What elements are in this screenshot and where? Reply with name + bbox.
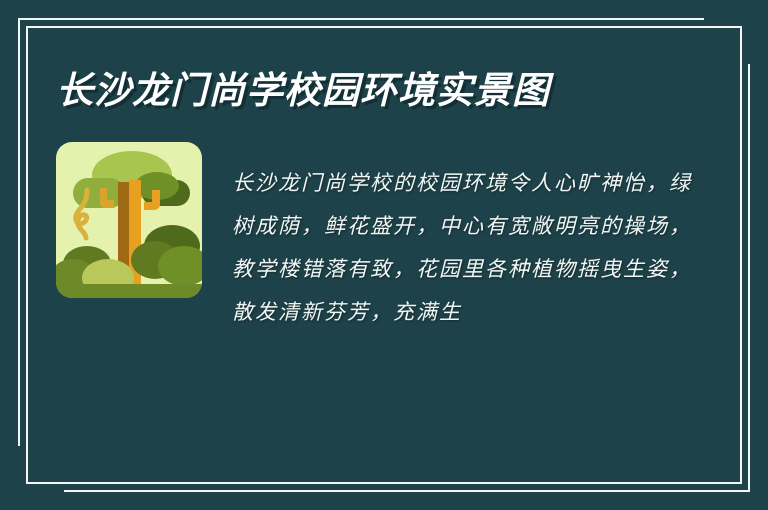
frame-corner-mask-bottom-left-2 xyxy=(0,484,64,510)
page-title: 长沙龙门尚学校园环境实景图 xyxy=(56,60,716,114)
poster-canvas: 长沙龙门尚学校园环境实景图 xyxy=(0,0,768,510)
tree-icon xyxy=(56,142,202,298)
frame-corner-mask-bottom-left xyxy=(0,446,26,510)
content-row: 长沙龙门尚学校的校园环境令人心旷神怡，绿树成荫，鲜花盛开，中心有宽敞明亮的操场，… xyxy=(56,142,712,334)
tree-illustration-card xyxy=(56,142,202,298)
frame-corner-mask-top-right-2 xyxy=(704,0,768,26)
frame-corner-mask-top-right xyxy=(742,0,768,64)
description-paragraph: 长沙龙门尚学校的校园环境令人心旷神怡，绿树成荫，鲜花盛开，中心有宽敞明亮的操场，… xyxy=(232,142,712,334)
